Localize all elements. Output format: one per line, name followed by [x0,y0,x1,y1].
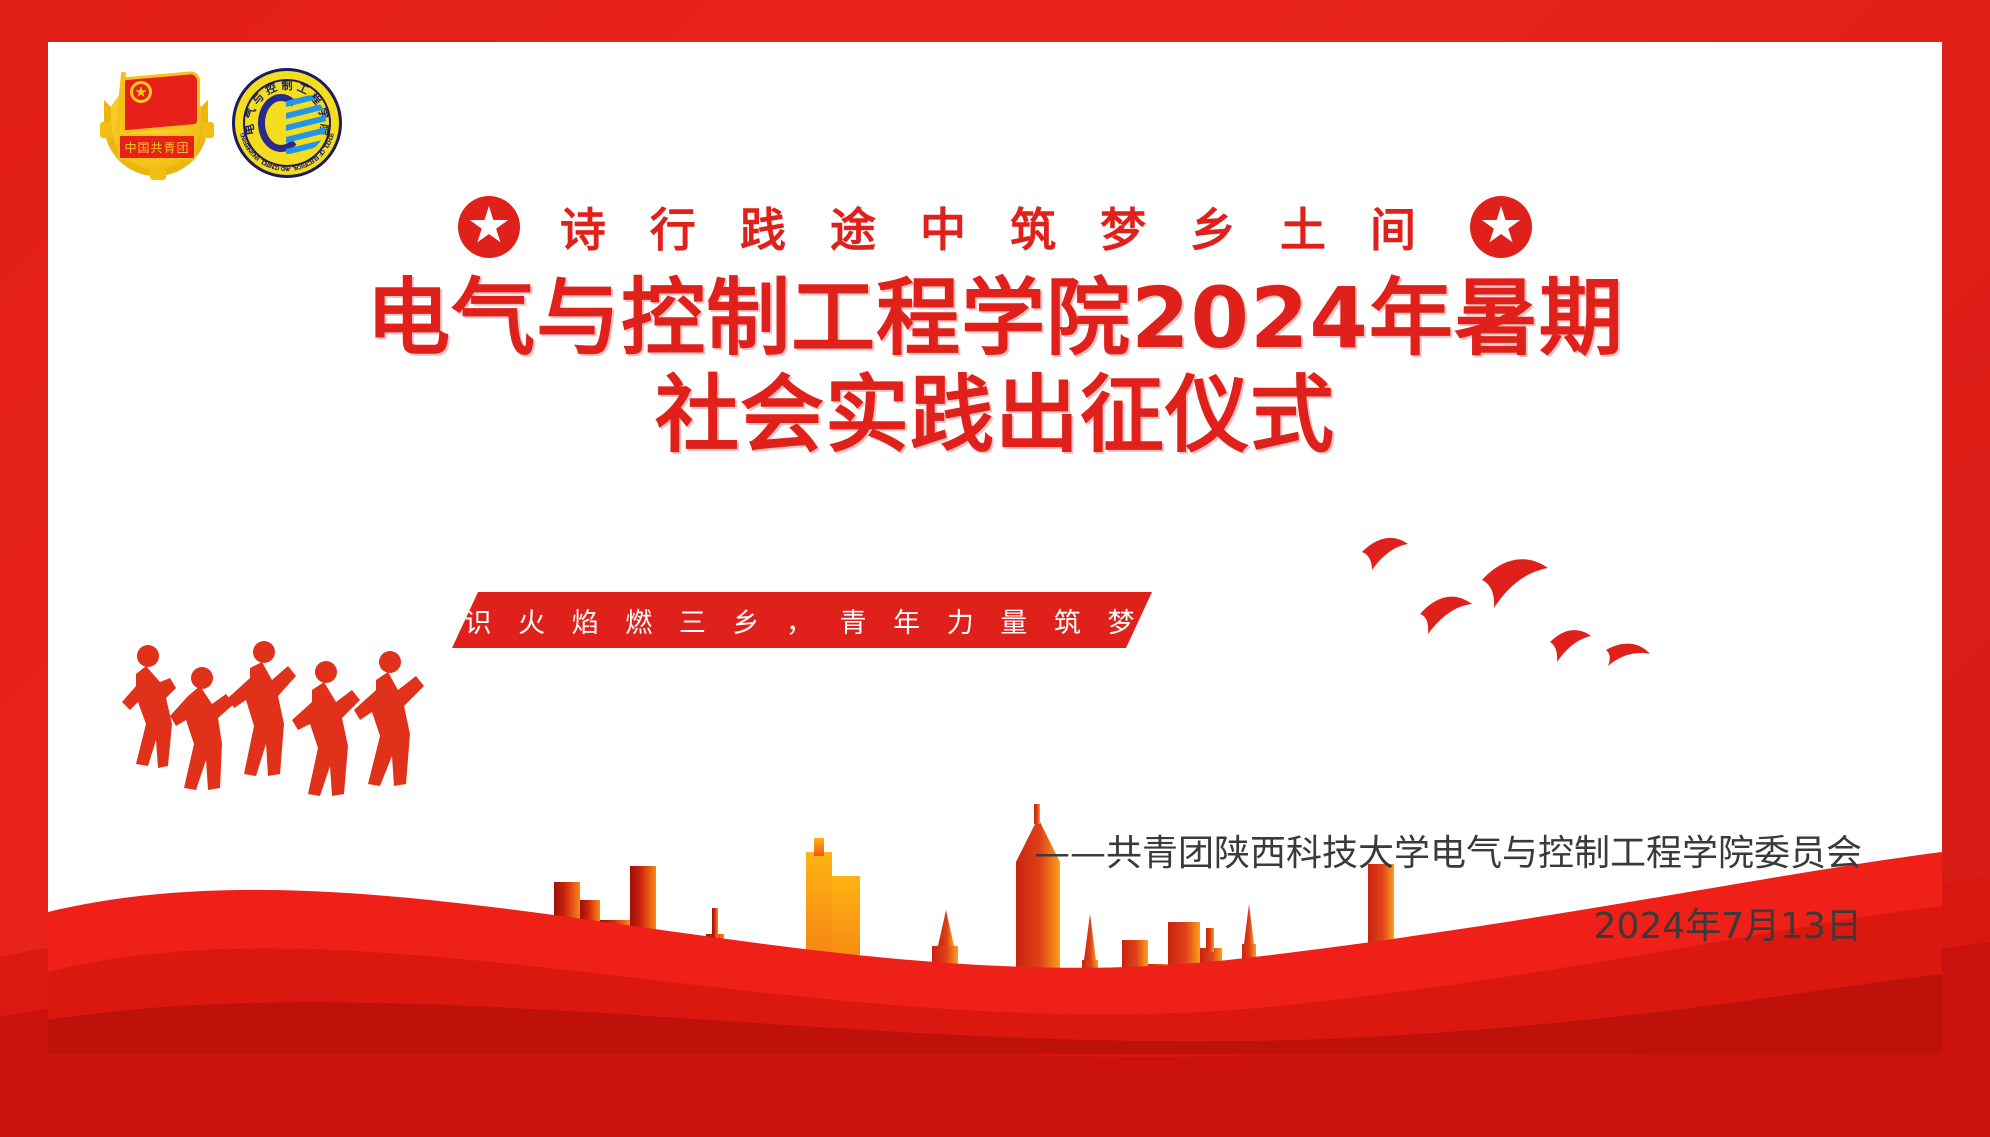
signature-block: ——共青团陕西科技大学电气与控制工程学院委员会 2024年7月13日 [1034,832,1862,949]
jumping-youth-icon [108,634,488,874]
subtitle-banner: 知 识 火 焰 燃 三 乡 ， 青 年 力 量 筑 梦 长 [452,592,1152,648]
communist-youth-league-emblem-icon: 中国共青团 [96,64,218,182]
title-line-1: 电气与控制工程学院2024年暑期 [48,270,1942,367]
subtitle-text: 知 识 火 焰 燃 三 乡 ， 青 年 力 量 筑 梦 长 [407,601,1197,640]
slogan-text: 诗 行 践 途 中 筑 梦 乡 土 间 [560,194,1430,260]
school-badge-icon: 电气与控制工程学院 SCHOOL OF ELECTRICAL AND CONTR… [228,64,346,182]
cyl-ribbon-text: 中国共青团 [124,139,189,156]
poster-title-block: 电气与控制工程学院2024年暑期 社会实践出征仪式 [48,270,1942,465]
poster-banner: 中国共青团 电气与控制工程学院 SCHOOL OF ELECTRICAL AND… [0,0,1990,1137]
title-line-2: 社会实践出征仪式 [48,367,1942,464]
logo-row: 中国共青团 电气与控制工程学院 SCHOOL OF ELECTRICAL AND… [96,64,346,182]
flying-birds-icon [1342,522,1672,722]
signature-organization: ——共青团陕西科技大学电气与控制工程学院委员会 [1034,832,1862,875]
star-badge-left-icon [458,196,520,258]
slogan-row: 诗 行 践 途 中 筑 梦 乡 土 间 [48,194,1942,260]
star-badge-right-icon [1470,196,1532,258]
poster-card: 中国共青团 电气与控制工程学院 SCHOOL OF ELECTRICAL AND… [48,42,1942,1054]
signature-date: 2024年7月13日 [1034,897,1862,949]
cyl-ribbon: 中国共青团 [118,134,196,160]
